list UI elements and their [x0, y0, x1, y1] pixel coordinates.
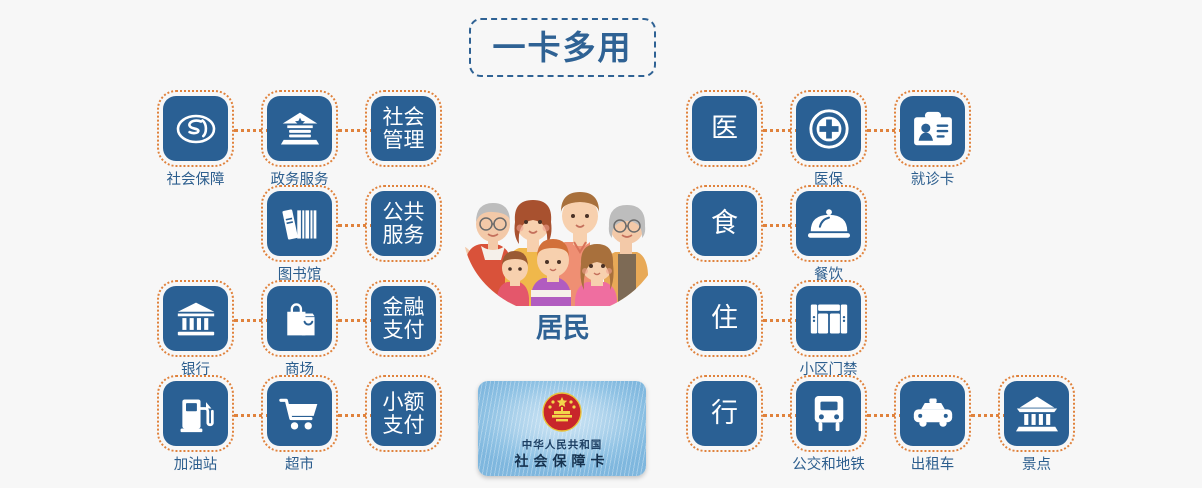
node-label: 社会保障 [167, 168, 225, 189]
tile[interactable] [267, 286, 332, 351]
node-financial-payment[interactable]: 金融 支付 [371, 286, 436, 351]
node-community-access[interactable]: 小区门禁 [796, 286, 861, 351]
node-library[interactable]: 图书馆 [267, 191, 332, 256]
node-dining[interactable]: 餐饮 [796, 191, 861, 256]
tile-text: 住 [711, 305, 738, 333]
card-title-text: 社会保障卡 [478, 451, 646, 471]
patient-id-card-icon [912, 111, 954, 147]
node-social-security[interactable]: 社会保障 [163, 96, 228, 161]
tile[interactable] [900, 381, 965, 446]
page-title-text: 一卡多用 [493, 31, 633, 64]
government-building-icon [280, 110, 320, 148]
tile[interactable] [796, 381, 861, 446]
page-title: 一卡多用 [469, 18, 656, 77]
tile[interactable] [267, 191, 332, 256]
node-mall[interactable]: 商场 [267, 286, 332, 351]
tile[interactable]: 小额 支付 [371, 381, 436, 446]
node-travel[interactable]: 行 [692, 381, 757, 446]
tile-text: 医 [711, 115, 738, 143]
social-security-logo-icon [176, 109, 216, 149]
tile-text: 行 [711, 400, 738, 428]
national-emblem [541, 391, 583, 433]
food-cloche-icon [808, 207, 850, 241]
node-housing[interactable]: 住 [692, 286, 757, 351]
node-label: 超市 [285, 453, 314, 474]
node-bank[interactable]: 银行 [163, 286, 228, 351]
landmark-icon [1016, 395, 1058, 433]
tile[interactable] [163, 96, 228, 161]
node-medical-insurance[interactable]: 医保 [796, 96, 861, 161]
tile[interactable] [163, 286, 228, 351]
shopping-cart-icon [279, 395, 321, 433]
node-label: 出租车 [911, 453, 955, 474]
tile-text: 公共 服务 [383, 201, 425, 247]
bank-icon [176, 300, 216, 338]
tile-text: 社会 管理 [383, 106, 425, 152]
fuel-pump-icon [177, 394, 215, 434]
social-security-card[interactable]: 中华人民共和国 社会保障卡 [478, 381, 646, 476]
tile[interactable] [267, 381, 332, 446]
tile[interactable]: 公共 服务 [371, 191, 436, 256]
tile-text: 小额 支付 [383, 391, 425, 437]
tile[interactable] [267, 96, 332, 161]
node-bus-metro[interactable]: 公交和地铁 [796, 381, 861, 446]
node-medical[interactable]: 医 [692, 96, 757, 161]
tile-text: 金融 支付 [383, 296, 425, 342]
tile[interactable] [900, 96, 965, 161]
node-government-service[interactable]: 政务服务 [267, 96, 332, 161]
tile[interactable] [796, 96, 861, 161]
tile[interactable] [163, 381, 228, 446]
tile[interactable]: 住 [692, 286, 757, 351]
tile[interactable]: 食 [692, 191, 757, 256]
node-patient-card[interactable]: 就诊卡 [900, 96, 965, 161]
node-food[interactable]: 食 [692, 191, 757, 256]
node-scenic-spot[interactable]: 景点 [1004, 381, 1069, 446]
infographic-canvas: 一卡多用 社会保障 [0, 0, 1202, 488]
family-label: 居民 [455, 306, 671, 345]
node-small-payment[interactable]: 小额 支付 [371, 381, 436, 446]
tile-text: 食 [711, 210, 738, 238]
tile[interactable]: 医 [692, 96, 757, 161]
node-label: 就诊卡 [911, 168, 955, 189]
gate-turnstile-icon [809, 300, 849, 338]
tile[interactable]: 行 [692, 381, 757, 446]
node-label: 景点 [1022, 453, 1051, 474]
medical-cross-icon [808, 108, 850, 150]
tile[interactable] [796, 191, 861, 256]
family-illustration-svg [455, 178, 671, 306]
node-taxi[interactable]: 出租车 [900, 381, 965, 446]
node-supermarket[interactable]: 超市 [267, 381, 332, 446]
family-illustration: 居民 [455, 178, 671, 306]
tile[interactable]: 金融 支付 [371, 286, 436, 351]
books-icon [280, 204, 320, 244]
node-social-management[interactable]: 社会 管理 [371, 96, 436, 161]
tile[interactable] [1004, 381, 1069, 446]
node-label: 加油站 [174, 453, 218, 474]
bus-metro-icon [810, 394, 848, 434]
node-label: 公交和地铁 [792, 453, 865, 474]
taxi-icon [912, 398, 954, 430]
tile[interactable] [796, 286, 861, 351]
tile[interactable]: 社会 管理 [371, 96, 436, 161]
node-public-service[interactable]: 公共 服务 [371, 191, 436, 256]
card-country-text: 中华人民共和国 [478, 437, 646, 452]
shopping-bag-icon [280, 299, 320, 339]
node-gas-station[interactable]: 加油站 [163, 381, 228, 446]
